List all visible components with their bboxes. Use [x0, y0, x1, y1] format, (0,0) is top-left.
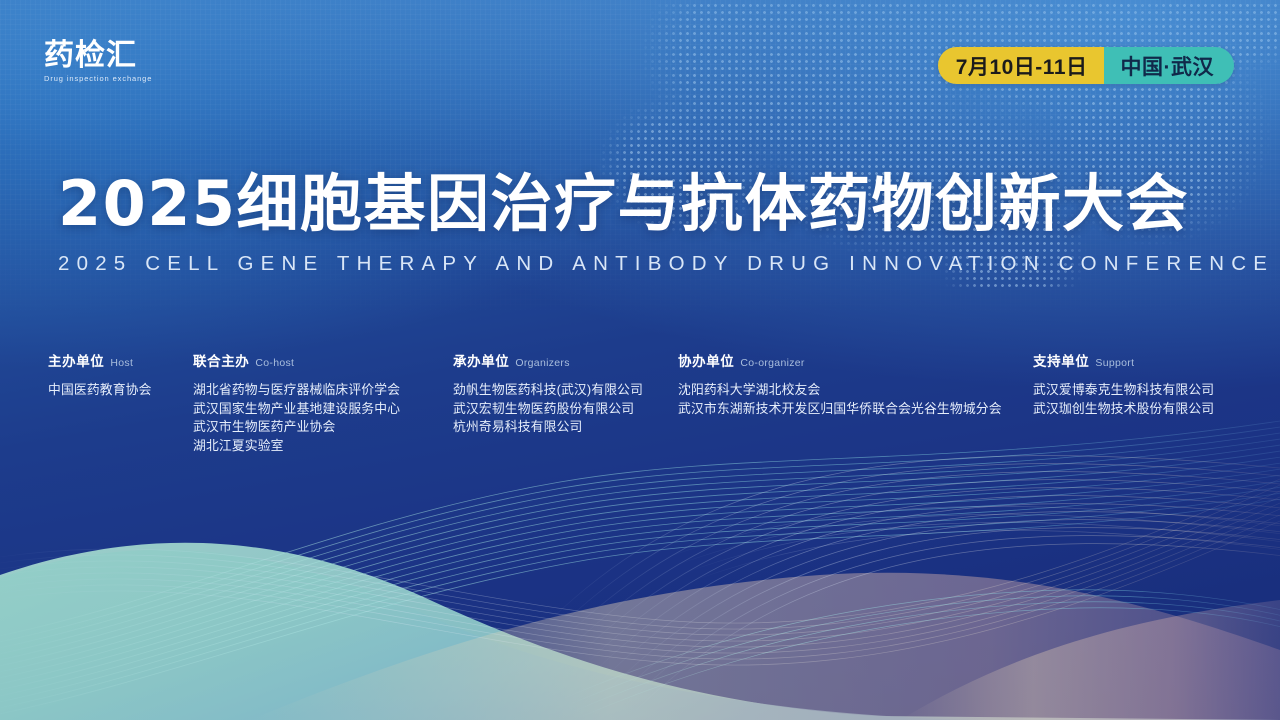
organizer-item: 湖北省药物与医疗器械临床评价学会 [193, 381, 453, 400]
organizer-item: 武汉爱博泰克生物科技有限公司 [1033, 381, 1238, 400]
organizer-label-en: Host [110, 357, 133, 369]
organizer-item: 武汉国家生物产业基地建设服务中心 [193, 400, 453, 419]
organizer-heading: 承办单位 Organizers [453, 350, 678, 370]
page-title: 2025细胞基因治疗与抗体药物创新大会 [58, 168, 1228, 240]
organizer-item: 武汉宏韧生物医药股份有限公司 [453, 400, 678, 419]
event-date: 7月10日-11日 [938, 47, 1104, 84]
organizer-heading: 支持单位 Support [1033, 350, 1238, 370]
event-info-badge: 7月10日-11日 中国·武汉 [938, 47, 1234, 84]
organizer-label-en: Co-organizer [740, 357, 804, 369]
organizer-item: 中国医药教育协会 [48, 381, 193, 400]
organizer-label-cn: 承办单位 [453, 350, 509, 370]
organizer-item: 杭州奇易科技有限公司 [453, 418, 678, 437]
conference-poster: 药检汇 Drug inspection exchange 7月10日-11日 中… [0, 0, 1280, 720]
brand-logo[interactable]: 药检汇 Drug inspection exchange [44, 40, 164, 90]
organizer-heading: 协办单位 Co-organizer [678, 350, 1033, 370]
organizer-item: 武汉市生物医药产业协会 [193, 418, 453, 437]
organizer-column-organizers: 承办单位 Organizers 劲帆生物医药科技(武汉)有限公司 武汉宏韧生物医… [453, 350, 678, 437]
organizer-item: 沈阳药科大学湖北校友会 [678, 381, 1033, 400]
organizer-section: 主办单位 Host 中国医药教育协会 联合主办 Co-host 湖北省药物与医疗… [48, 350, 1238, 455]
organizer-item: 武汉珈创生物技术股份有限公司 [1033, 400, 1238, 419]
organizer-label-cn: 支持单位 [1033, 350, 1089, 370]
organizer-label-cn: 协办单位 [678, 350, 734, 370]
organizer-column-host: 主办单位 Host 中国医药教育协会 [48, 350, 193, 400]
organizer-label-en: Support [1095, 357, 1134, 369]
organizer-item: 湖北江夏实验室 [193, 437, 453, 456]
page-subtitle: 2025 CELL GENE THERAPY AND ANTIBODY DRUG… [58, 252, 1228, 276]
organizer-column-co-host: 联合主办 Co-host 湖北省药物与医疗器械临床评价学会 武汉国家生物产业基地… [193, 350, 453, 455]
organizer-label-cn: 联合主办 [193, 350, 249, 370]
organizer-label-en: Co-host [255, 357, 294, 369]
title-block: 2025细胞基因治疗与抗体药物创新大会 2025 CELL GENE THERA… [58, 168, 1228, 276]
organizer-label-en: Organizers [515, 357, 569, 369]
organizer-item: 武汉市东湖新技术开发区归国华侨联合会光谷生物城分会 [678, 400, 1033, 419]
brand-logo-icon: 药检汇 [44, 40, 164, 72]
organizer-column-support: 支持单位 Support 武汉爱博泰克生物科技有限公司 武汉珈创生物技术股份有限… [1033, 350, 1238, 418]
organizer-label-cn: 主办单位 [48, 350, 104, 370]
organizer-heading: 联合主办 Co-host [193, 350, 453, 370]
organizer-column-co-organizer: 协办单位 Co-organizer 沈阳药科大学湖北校友会 武汉市东湖新技术开发… [678, 350, 1033, 418]
organizer-item: 劲帆生物医药科技(武汉)有限公司 [453, 381, 678, 400]
organizer-heading: 主办单位 Host [48, 350, 193, 370]
event-city: 中国·武汉 [1104, 47, 1235, 84]
brand-logo-tagline: Drug inspection exchange [44, 74, 164, 83]
